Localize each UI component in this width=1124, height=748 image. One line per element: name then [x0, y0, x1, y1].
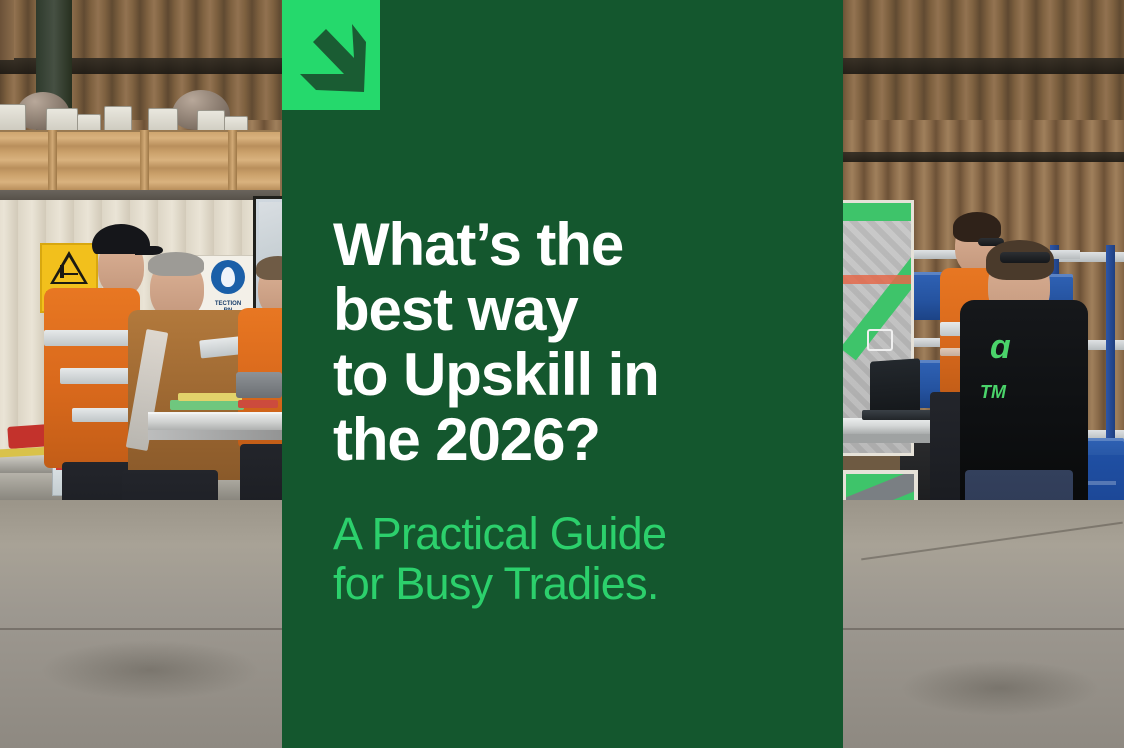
- laptop-screen: [870, 358, 920, 417]
- left-worktable-edge: [148, 430, 298, 440]
- steel-beam-vertical-2: [0, 0, 14, 60]
- floor-stain-1: [40, 640, 260, 700]
- forklift-glyph-icon: [60, 265, 78, 278]
- hoodie-chest-logo: ɑ: [990, 328, 1011, 367]
- person-left-brown-hair: [148, 252, 204, 276]
- floor-stain-2: [900, 660, 1100, 716]
- grey-device: [236, 372, 282, 398]
- headline-line-1: What’s the: [333, 212, 813, 277]
- subhead-line-1: A Practical Guide: [333, 509, 813, 559]
- left-worktable: [148, 412, 298, 432]
- crate-slat-3: [228, 130, 237, 192]
- banner-stripe-top: [840, 200, 914, 221]
- headline-line-4: the 2026?: [333, 407, 813, 472]
- laptop-base: [862, 410, 940, 420]
- person-right-hoodie-sunglasses: [1000, 252, 1050, 263]
- hoodie-sleeve-logo: TM: [980, 382, 1006, 403]
- crate-slat-2: [140, 130, 149, 192]
- banner-icon-box: [867, 329, 893, 351]
- banner-canvas: FORKIN U TECTIONRN: [0, 0, 1124, 748]
- arrow-down-right-icon: [292, 12, 370, 98]
- headline-line-2: best way: [333, 277, 813, 342]
- subhead-line-2: for Busy Tradies.: [333, 559, 813, 609]
- banner-orange-line: [843, 275, 911, 284]
- headline-line-3: to Upskill in: [333, 342, 813, 407]
- page-subtitle: A Practical Guide for Busy Tradies.: [333, 509, 813, 609]
- brand-logo[interactable]: [282, 0, 380, 110]
- person-left-cap-band-1: [44, 330, 140, 346]
- binder-green: [170, 400, 244, 410]
- binder-yellow: [178, 393, 242, 401]
- crate-slat-1: [48, 130, 57, 192]
- binder-red: [238, 400, 278, 408]
- page-title: What’s the best way to Upskill in the 20…: [333, 212, 813, 472]
- ppe-circle-icon: [211, 260, 245, 294]
